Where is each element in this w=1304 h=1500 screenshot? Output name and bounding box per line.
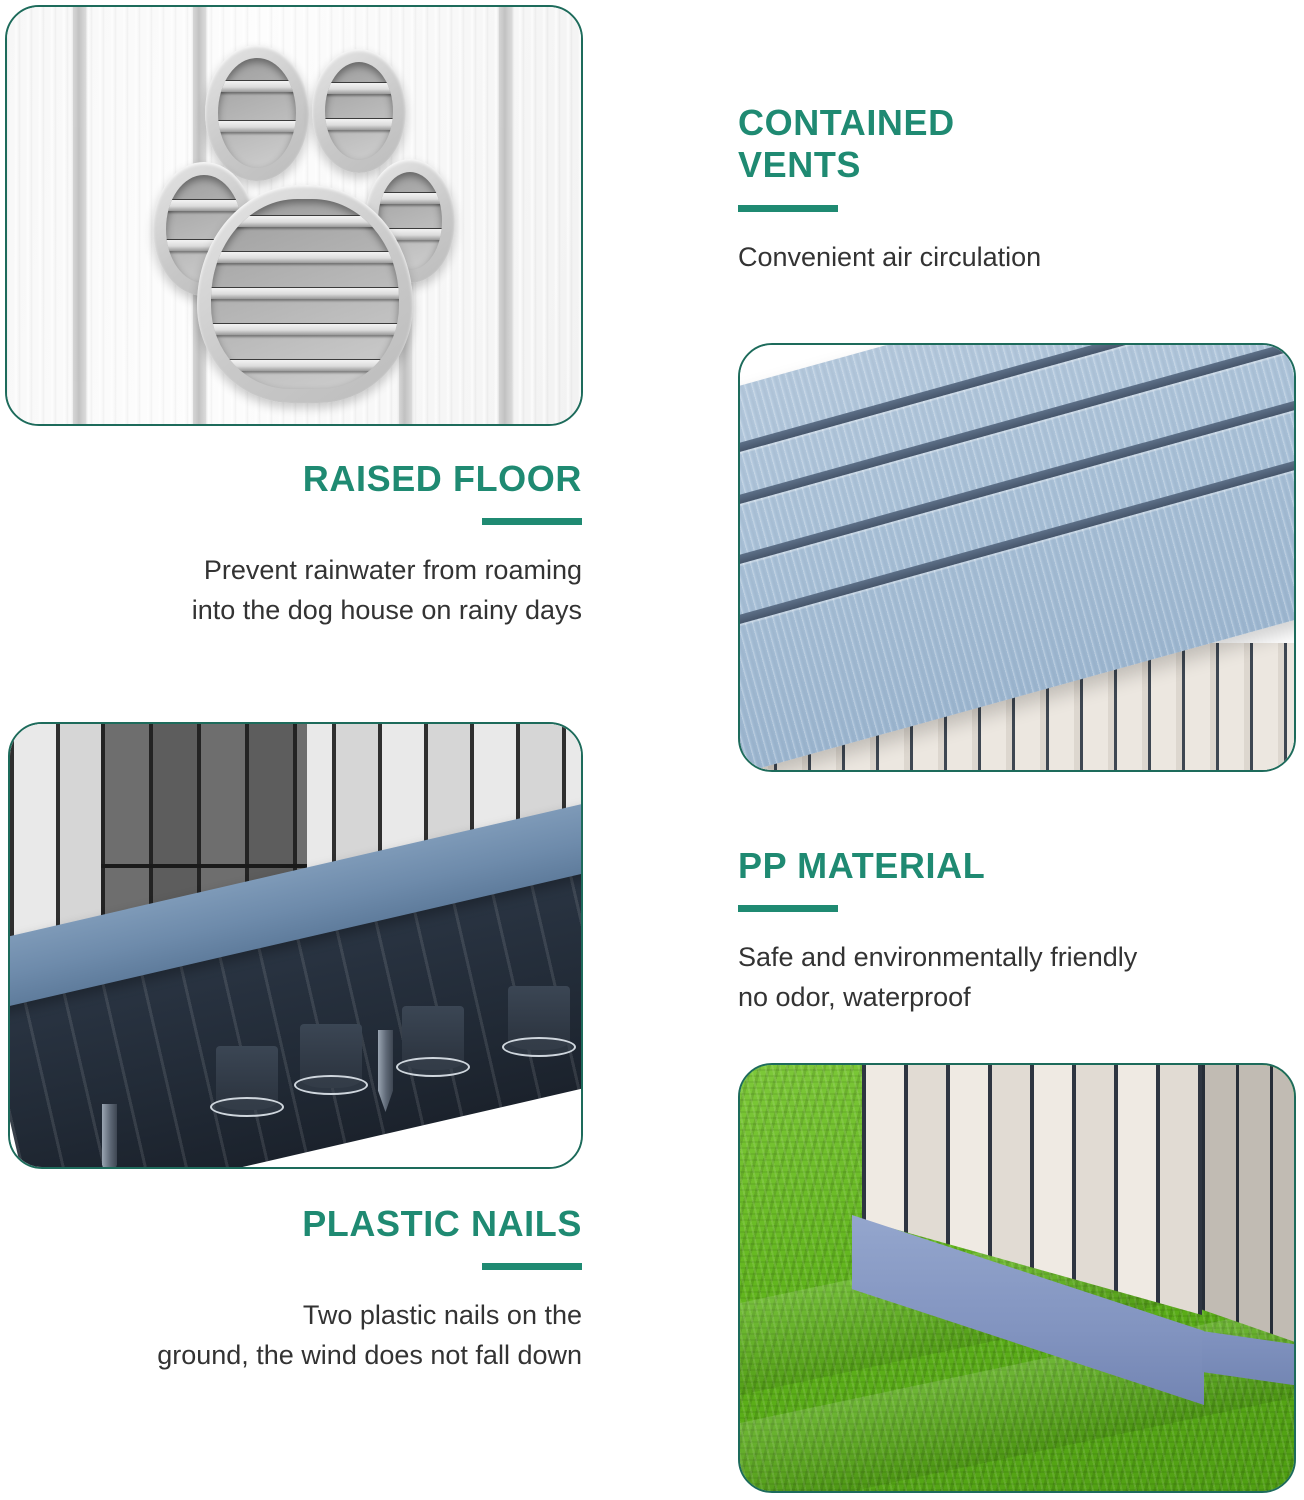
feature-block-contained-vents: CONTAINED VENTS Convenient air circulati… — [738, 102, 1294, 278]
louver-slat — [378, 192, 442, 204]
toe-vent-well — [325, 62, 393, 160]
heading-divider — [738, 905, 838, 912]
heading-divider — [482, 1263, 582, 1270]
louver-slat — [211, 359, 399, 371]
toe-vent-icon — [312, 49, 406, 173]
feature-heading: PLASTIC NAILS — [10, 1203, 582, 1245]
feature-heading: CONTAINED VENTS — [738, 102, 1294, 187]
toe-vent-well — [218, 58, 296, 168]
base-support-post — [508, 986, 570, 1050]
paw-pad-vent-icon — [197, 185, 413, 403]
grass-base-panel-image — [738, 1063, 1296, 1493]
paw-pad-vent-well — [211, 199, 399, 389]
blue-roof-scene — [740, 345, 1294, 770]
feature-body: Prevent rainwater from roaming into the … — [10, 551, 582, 631]
siding-groove — [499, 5, 512, 426]
paw-vent-scene — [7, 7, 581, 424]
louver-slat — [211, 251, 399, 263]
grass-base-scene — [740, 1065, 1294, 1491]
base-support-post — [402, 1006, 464, 1070]
heading-divider — [482, 518, 582, 525]
louver-slat — [218, 80, 296, 92]
feature-heading: RAISED FLOOR — [10, 458, 582, 500]
louver-slat — [325, 118, 393, 130]
feature-body: Two plastic nails on the ground, the win… — [10, 1296, 582, 1376]
base-support-post — [300, 1024, 362, 1088]
louver-slat — [211, 215, 399, 227]
plastic-nails-panel-image — [8, 722, 583, 1169]
infographic-page: RAISED FLOOR Prevent rainwater from roam… — [0, 0, 1304, 1500]
toe-vent-icon — [205, 45, 309, 181]
louver-slat — [211, 287, 399, 299]
plastic-nails-scene — [10, 724, 581, 1167]
feature-body: Convenient air circulation — [738, 238, 1294, 278]
blue-roof-panel-image — [738, 343, 1296, 772]
feature-heading: PP MATERIAL — [738, 845, 1294, 887]
feature-block-plastic-nails: PLASTIC NAILS Two plastic nails on the g… — [10, 1203, 582, 1376]
louver-slat — [211, 323, 399, 335]
feature-block-raised-floor: RAISED FLOOR Prevent rainwater from roam… — [10, 458, 582, 631]
louver-slat — [325, 82, 393, 94]
louver-slat — [218, 120, 296, 132]
base-support-post — [216, 1046, 278, 1110]
dog-house-side-wall — [1202, 1065, 1296, 1343]
paw-vent-panel-image — [5, 5, 583, 426]
plastic-nail-icon — [102, 1104, 117, 1167]
feature-block-pp-material: PP MATERIAL Safe and environmentally fri… — [738, 845, 1294, 1018]
heading-divider — [738, 205, 838, 212]
siding-groove — [73, 5, 86, 426]
louver-slat — [166, 199, 242, 211]
feature-body: Safe and environmentally friendly no odo… — [738, 938, 1294, 1018]
